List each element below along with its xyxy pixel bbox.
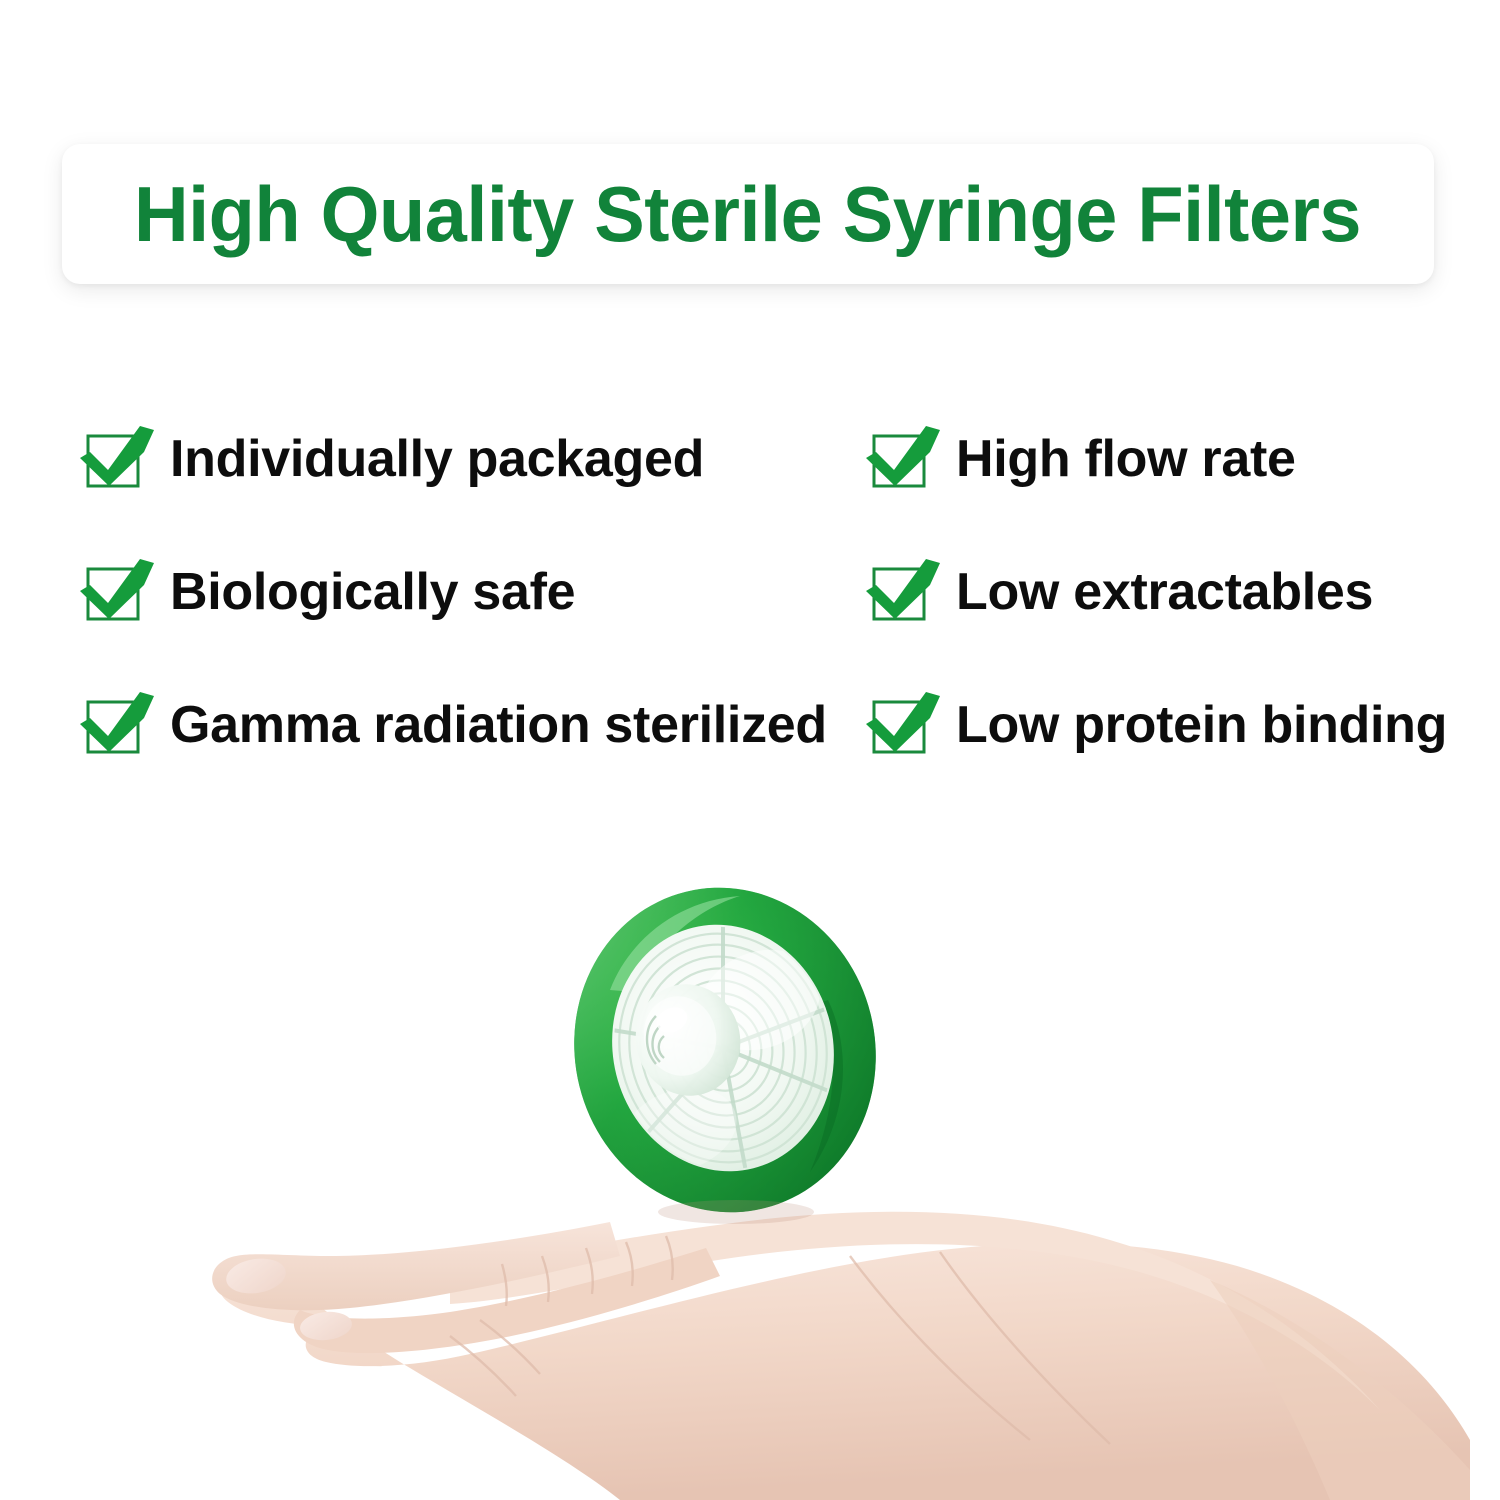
feature-label: Low protein binding bbox=[956, 684, 1447, 766]
feature-item-low-protein-binding: Low protein binding bbox=[864, 684, 1448, 817]
green-checkbox-check-icon bbox=[864, 551, 948, 633]
feature-list: Individually packaged High flow rate Bio… bbox=[78, 418, 1448, 817]
feature-label: Biologically safe bbox=[170, 551, 575, 633]
green-checkbox-check-icon bbox=[78, 418, 162, 500]
feature-label: Individually packaged bbox=[170, 418, 704, 500]
product-photo bbox=[0, 860, 1500, 1500]
green-checkbox-check-icon bbox=[78, 551, 162, 633]
feature-label: Low extractables bbox=[956, 551, 1373, 633]
feature-item-biologically-safe: Biologically safe bbox=[78, 551, 864, 684]
green-checkbox-check-icon bbox=[864, 684, 948, 766]
filter-contact-shadow bbox=[658, 1200, 814, 1224]
feature-item-gamma-radiation-sterilized: Gamma radiation sterilized bbox=[78, 684, 864, 817]
feature-item-high-flow-rate: High flow rate bbox=[864, 418, 1448, 551]
feature-label: Gamma radiation sterilized bbox=[170, 684, 827, 766]
green-checkbox-check-icon bbox=[864, 418, 948, 500]
feature-item-low-extractables: Low extractables bbox=[864, 551, 1448, 684]
product-feature-graphic: High Quality Sterile Syringe Filters Ind… bbox=[0, 0, 1500, 1500]
page-title: High Quality Sterile Syringe Filters bbox=[134, 175, 1361, 253]
green-checkbox-check-icon bbox=[78, 684, 162, 766]
feature-item-individually-packaged: Individually packaged bbox=[78, 418, 864, 551]
feature-label: High flow rate bbox=[956, 418, 1296, 500]
title-card: High Quality Sterile Syringe Filters bbox=[62, 144, 1434, 284]
syringe-filter-image bbox=[560, 880, 890, 1230]
